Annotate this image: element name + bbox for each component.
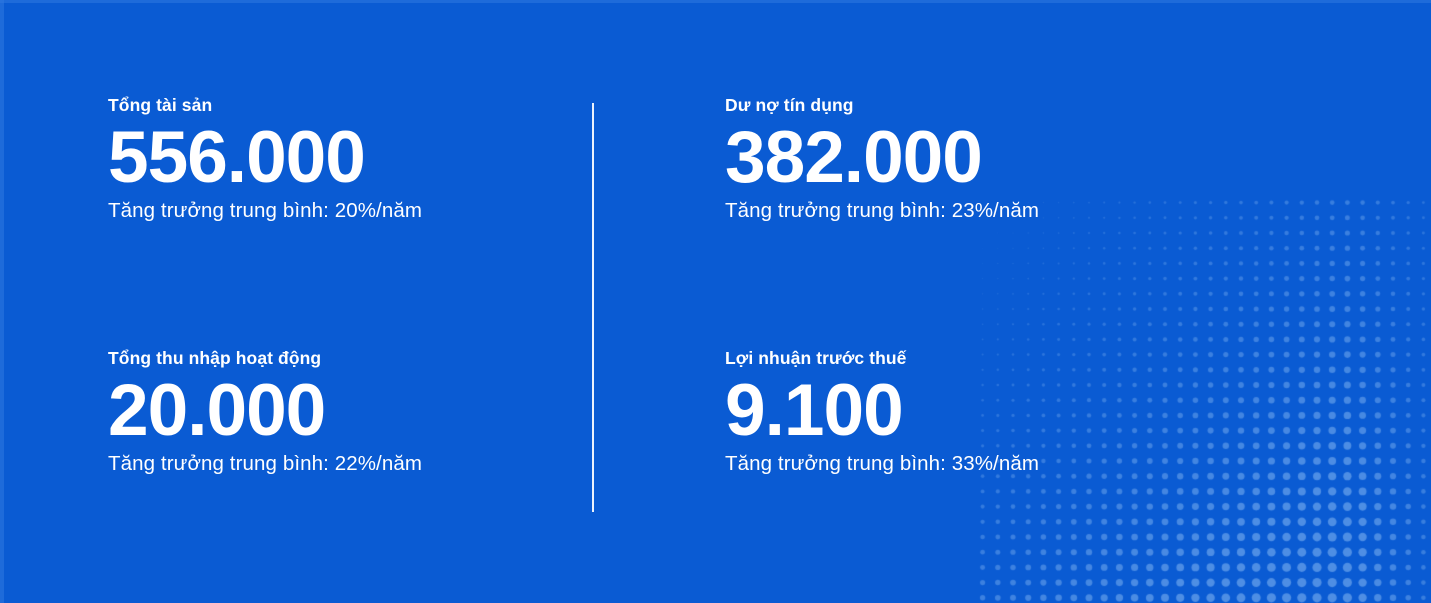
stat-label: Tổng tài sản — [108, 95, 592, 116]
stats-infographic: Tổng tài sản 556.000 Tăng trưởng trung b… — [0, 0, 1431, 603]
stat-subtitle: Tăng trưởng trung bình: 20%/năm — [108, 198, 592, 225]
stat-label: Tổng thu nhập hoạt động — [108, 348, 592, 369]
stats-grid: Tổng tài sản 556.000 Tăng trưởng trung b… — [0, 0, 1431, 603]
column-divider — [592, 103, 594, 512]
stat-card-credit-outstanding: Dư nợ tín dụng 382.000 Tăng trưởng trung… — [592, 0, 1431, 303]
stat-card-total-operating-income: Tổng thu nhập hoạt động 20.000 Tăng trưở… — [0, 303, 592, 603]
stat-value: 556.000 — [108, 120, 592, 196]
stat-label: Lợi nhuận trước thuế — [725, 348, 1431, 369]
stat-subtitle: Tăng trưởng trung bình: 23%/năm — [725, 198, 1431, 225]
stat-card-total-assets: Tổng tài sản 556.000 Tăng trưởng trung b… — [0, 0, 592, 303]
stat-value: 382.000 — [725, 120, 1431, 196]
stat-value: 9.100 — [725, 373, 1431, 449]
stat-label: Dư nợ tín dụng — [725, 95, 1431, 116]
stat-card-profit-before-tax: Lợi nhuận trước thuế 9.100 Tăng trưởng t… — [592, 303, 1431, 603]
stat-subtitle: Tăng trưởng trung bình: 33%/năm — [725, 451, 1431, 478]
stat-subtitle: Tăng trưởng trung bình: 22%/năm — [108, 451, 592, 478]
stat-value: 20.000 — [108, 373, 592, 449]
